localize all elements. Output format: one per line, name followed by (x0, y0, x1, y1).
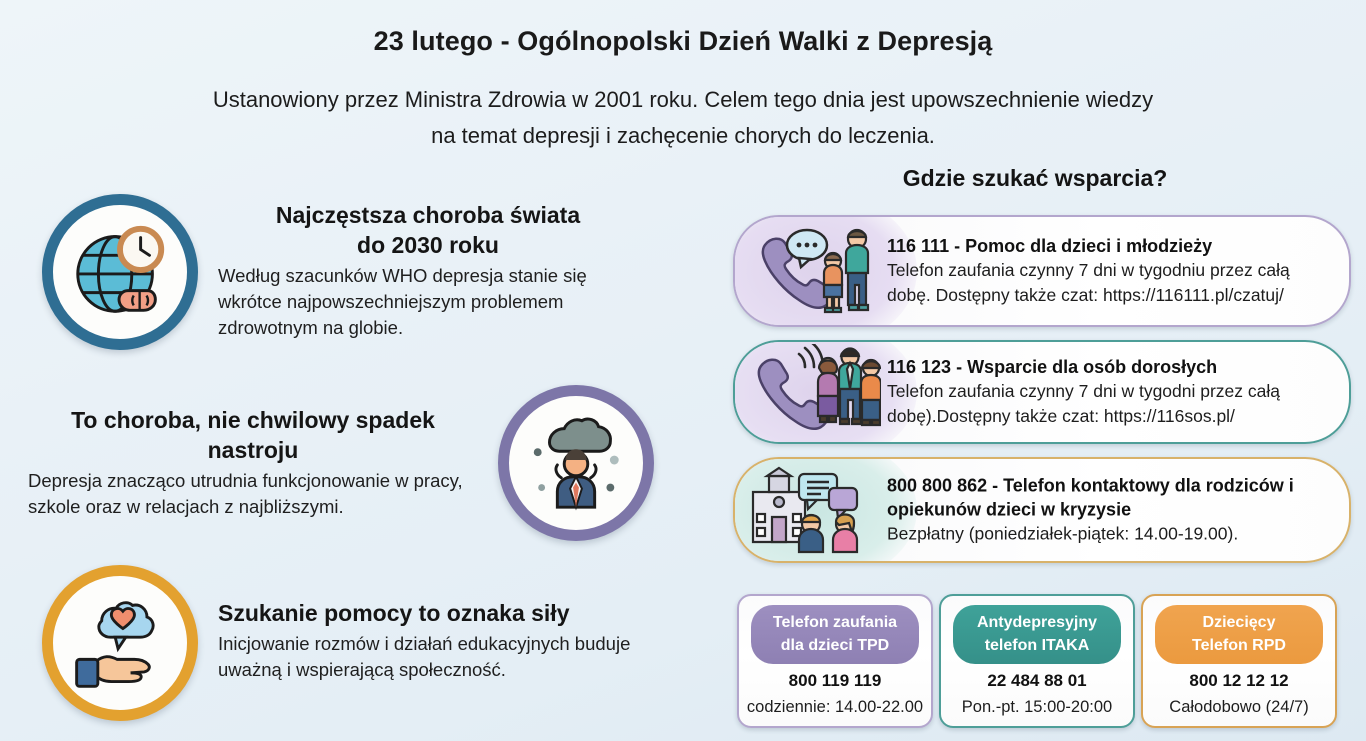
school-conversation-glyph (741, 462, 873, 556)
support-title: Gdzie szukać wsparcia? (715, 165, 1355, 192)
page-title: 23 lutego - Ogólnopolski Dzień Walki z D… (0, 26, 1366, 57)
phone-chat-family-icon (749, 223, 881, 319)
globe-clock-brain-icon (42, 194, 198, 350)
globe-clock-brain-glyph (66, 218, 174, 326)
page-subtitle: Ustanowiony przez Ministra Zdrowia w 200… (120, 82, 1246, 154)
feature-3-body: Inicjowanie rozmów i działań edukacyjnyc… (218, 631, 688, 683)
support-card-1-text: 116 111 - Pomoc dla dzieci i młodzieży T… (887, 234, 1335, 308)
hotline-1-caption-line-2: dla dzieci TPD (751, 634, 919, 657)
hotline-3-caption: Dziecięcy Telefon RPD (1155, 605, 1323, 664)
feature-2: To choroba, nie chwilowy spadek nastroju… (28, 405, 478, 520)
support-card-3-description: Bezpłatny (poniedziałek-piątek: 14.00-19… (887, 522, 1335, 547)
support-card-800800862[interactable]: 800 800 862 - Telefon kontaktowy dla rod… (733, 457, 1351, 563)
hotline-3-caption-line-1: Dziecięcy (1155, 611, 1323, 634)
infographic-page: 23 lutego - Ogólnopolski Dzień Walki z D… (0, 0, 1366, 741)
feature-1-heading-line-2: do 2030 roku (357, 232, 499, 258)
hotline-3-number: 800 12 12 12 (1143, 671, 1335, 691)
stressed-person-cloud-glyph (522, 409, 630, 517)
feature-3: Szukanie pomocy to oznaka siły Inicjowan… (218, 598, 688, 683)
hotline-1-caption-line-1: Telefon zaufania (751, 611, 919, 634)
support-card-2-description: Telefon zaufania czynny 7 dni w tygodni … (887, 379, 1335, 429)
hotline-2-number: 22 484 88 01 (941, 671, 1133, 691)
hotline-1-hours: codziennie: 14.00-22.00 (739, 698, 931, 717)
feature-2-heading-line-2: nastroju (208, 437, 299, 463)
support-card-116123[interactable]: 116 123 - Wsparcie dla osób dorosłych Te… (733, 340, 1351, 444)
feature-3-heading: Szukanie pomocy to oznaka siły (218, 598, 688, 628)
hotline-1-caption: Telefon zaufania dla dzieci TPD (751, 605, 919, 664)
support-card-2-title: 116 123 - Wsparcie dla osób dorosłych (887, 355, 1335, 379)
hand-heart-thought-glyph (67, 590, 173, 696)
feature-3-heading-line-1: Szukanie pomocy to oznaka siły (218, 600, 570, 626)
feature-2-heading: To choroba, nie chwilowy spadek nastroju (28, 405, 478, 465)
hotline-box-rpd[interactable]: Dziecięcy Telefon RPD 800 12 12 12 Całod… (1141, 594, 1337, 728)
feature-2-heading-line-1: To choroba, nie chwilowy spadek (71, 407, 435, 433)
brain-glyph (119, 291, 155, 311)
phone-chat-family-glyph (749, 223, 881, 319)
hotline-3-caption-line-2: Telefon RPD (1155, 634, 1323, 657)
feature-1-heading-line-1: Najczęstsza choroba świata (276, 202, 580, 228)
feature-2-body: Depresja znacząco utrudnia funkcjonowani… (28, 468, 478, 520)
support-card-1-title: 116 111 - Pomoc dla dzieci i młodzieży (887, 234, 1335, 258)
support-card-116111[interactable]: 116 111 - Pomoc dla dzieci i młodzieży T… (733, 215, 1351, 327)
support-card-3-text: 800 800 862 - Telefon kontaktowy dla rod… (887, 474, 1335, 547)
hotline-1-number: 800 119 119 (739, 671, 931, 691)
hotline-3-hours: Całodobowo (24/7) (1143, 698, 1335, 717)
feature-1-body: Według szacunków WHO depresja stanie się… (218, 263, 638, 341)
clock-glyph (120, 229, 161, 270)
support-card-3-title: 800 800 862 - Telefon kontaktowy dla rod… (887, 474, 1335, 522)
hotline-box-itaka[interactable]: Antydepresyjny telefon ITAKA 22 484 88 0… (939, 594, 1135, 728)
hotline-2-hours: Pon.-pt. 15:00-20:00 (941, 698, 1133, 717)
hotline-2-caption-line-2: telefon ITAKA (953, 634, 1121, 657)
hotline-2-caption: Antydepresyjny telefon ITAKA (953, 605, 1121, 664)
support-card-2-text: 116 123 - Wsparcie dla osób dorosłych Te… (887, 355, 1335, 429)
support-column: Gdzie szukać wsparcia? (715, 165, 1366, 741)
hotline-2-caption-line-1: Antydepresyjny (953, 611, 1121, 634)
hotline-box-tpd[interactable]: Telefon zaufania dla dzieci TPD 800 119 … (737, 594, 933, 728)
ringing-phone-adults-icon (749, 344, 881, 440)
school-conversation-icon (741, 462, 873, 558)
subtitle-line-1: Ustanowiony przez Ministra Zdrowia w 200… (120, 82, 1246, 118)
feature-1-heading: Najczęstsza choroba świata do 2030 roku (218, 200, 638, 260)
stressed-person-cloud-icon (498, 385, 654, 541)
features-column: Najczęstsza choroba świata do 2030 roku … (0, 180, 700, 740)
subtitle-line-2: na temat depresji i zachęcenie chorych d… (120, 118, 1246, 154)
support-card-1-description: Telefon zaufania czynny 7 dni w tygodniu… (887, 258, 1335, 308)
ringing-phone-adults-glyph (749, 344, 881, 436)
feature-1: Najczęstsza choroba świata do 2030 roku … (218, 200, 638, 341)
hand-heart-thought-icon (42, 565, 198, 721)
